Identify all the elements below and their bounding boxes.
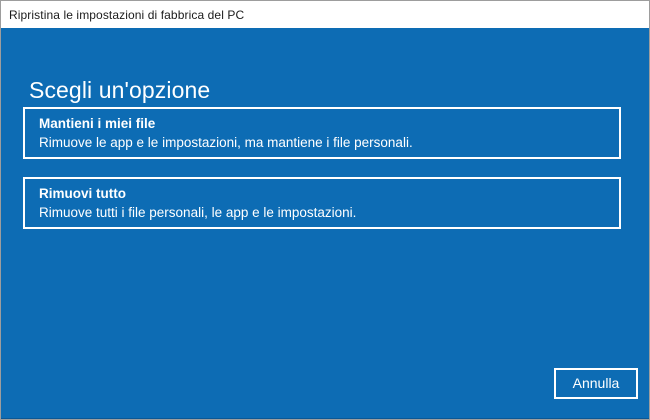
page-title: Scegli un'opzione <box>29 76 210 104</box>
reset-pc-window: Ripristina le impostazioni di fabbrica d… <box>0 0 650 420</box>
option-remove-everything[interactable]: Rimuovi tutto Rimuove tutti i file perso… <box>23 177 621 229</box>
title-bar: Ripristina le impostazioni di fabbrica d… <box>1 1 650 28</box>
option-keep-my-files[interactable]: Mantieni i miei file Rimuove le app e le… <box>23 107 621 159</box>
option-description: Rimuove tutti i file personali, le app e… <box>39 203 619 222</box>
option-list: Mantieni i miei file Rimuove le app e le… <box>23 107 621 229</box>
option-description: Rimuove le app e le impostazioni, ma man… <box>39 133 619 152</box>
cancel-button[interactable]: Annulla <box>554 368 638 399</box>
option-title: Mantieni i miei file <box>39 115 619 133</box>
window-title: Ripristina le impostazioni di fabbrica d… <box>1 8 244 22</box>
content-pane: Scegli un'opzione Mantieni i miei file R… <box>1 28 650 420</box>
option-title: Rimuovi tutto <box>39 185 619 203</box>
